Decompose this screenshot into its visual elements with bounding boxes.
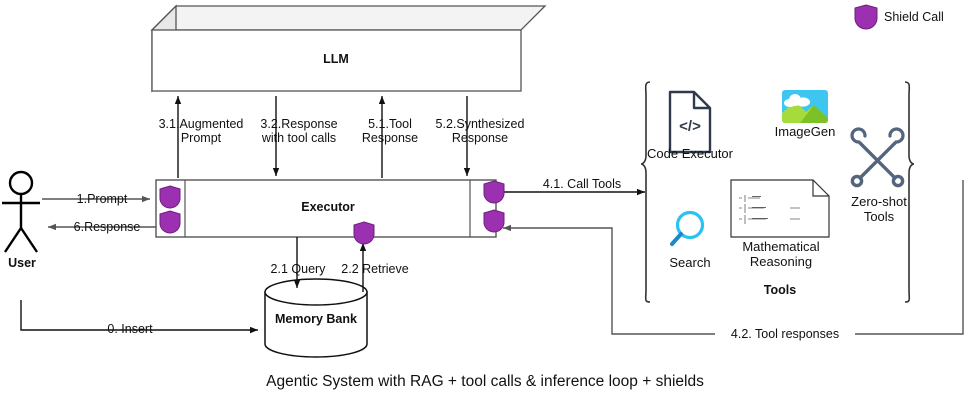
user-label: User — [0, 256, 44, 270]
llm-label: LLM — [296, 52, 376, 66]
llm-node[interactable] — [152, 6, 545, 91]
crossed-wrenches-icon — [852, 129, 903, 186]
tool-label-math-reasoning: Mathematical Reasoning — [735, 239, 827, 269]
edge-label-tool-responses: 4.2. Tool responses — [715, 327, 855, 341]
image-icon — [782, 90, 828, 123]
shield-input-response — [160, 211, 180, 233]
legend-label: Shield Call — [884, 10, 964, 24]
user-node[interactable] — [2, 172, 40, 252]
shield-tool-response — [484, 210, 504, 232]
tools-brace-right — [905, 82, 914, 302]
tool-label-imagegen: ImageGen — [760, 124, 850, 139]
executor-label: Executor — [288, 200, 368, 214]
edge-label-retrieve: 2.2 Retrieve — [325, 262, 425, 276]
shield-memory — [354, 222, 374, 244]
svg-text:</>: </> — [679, 118, 701, 135]
edge-label-synthesized-response: 5.2.Synthesized Response — [415, 117, 545, 145]
memory-bank-label: Memory Bank — [266, 312, 366, 326]
legend-shield-icon — [855, 5, 877, 29]
tool-label-zero-shot-tools: Zero-shot Tools — [833, 194, 925, 224]
tools-group-label: Tools — [735, 283, 825, 297]
formula-document-icon — [731, 180, 829, 237]
tool-label-search: Search — [645, 255, 735, 270]
edge-label-insert: 0. Insert — [70, 322, 190, 336]
diagram-caption: Agentic System with RAG + tool calls & i… — [0, 373, 970, 391]
edge-label-response: 6.Response — [52, 220, 162, 234]
shield-input-prompt — [160, 186, 180, 208]
edge-label-prompt: 1.Prompt — [52, 192, 152, 206]
shield-tool-call — [484, 181, 504, 203]
edge-label-call-tools: 4.1. Call Tools — [527, 177, 637, 191]
tool-label-code-executor: Code Executor — [645, 146, 735, 161]
magnifier-icon — [672, 213, 703, 245]
code-document-icon: </> — [670, 92, 710, 152]
